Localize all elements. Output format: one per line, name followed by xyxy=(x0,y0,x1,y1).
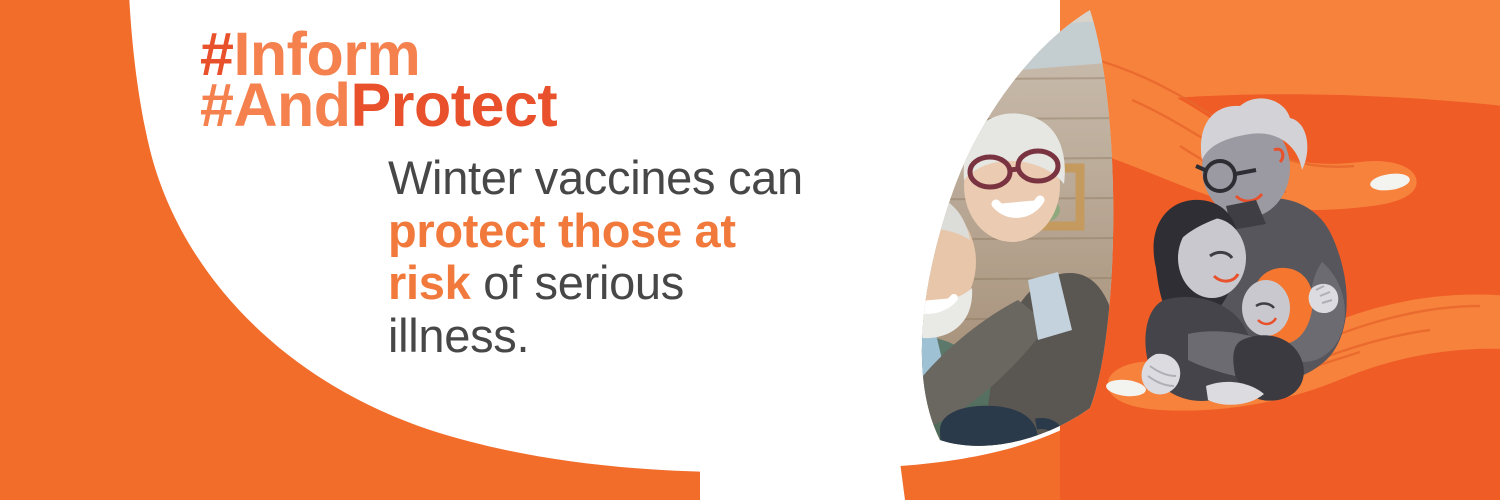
child-hand xyxy=(1309,284,1339,313)
hashtag-word-and: And xyxy=(233,71,350,139)
hash-symbol-2: # xyxy=(200,71,233,139)
headline-hashtags: #Inform #AndProtect xyxy=(200,26,557,133)
child-head xyxy=(1242,280,1290,336)
hands-family-svg xyxy=(1060,0,1500,500)
campaign-banner: #Inform #AndProtect Winter vaccines can … xyxy=(0,0,1500,500)
hashtag-line-2: #AndProtect xyxy=(200,77,557,133)
hands-family-illustration xyxy=(1060,0,1500,500)
body-copy: Winter vaccines can protect those at ris… xyxy=(388,152,818,363)
body-copy-part1: Winter vaccines can xyxy=(388,151,803,204)
hashtag-word-protect: Protect xyxy=(351,71,558,139)
